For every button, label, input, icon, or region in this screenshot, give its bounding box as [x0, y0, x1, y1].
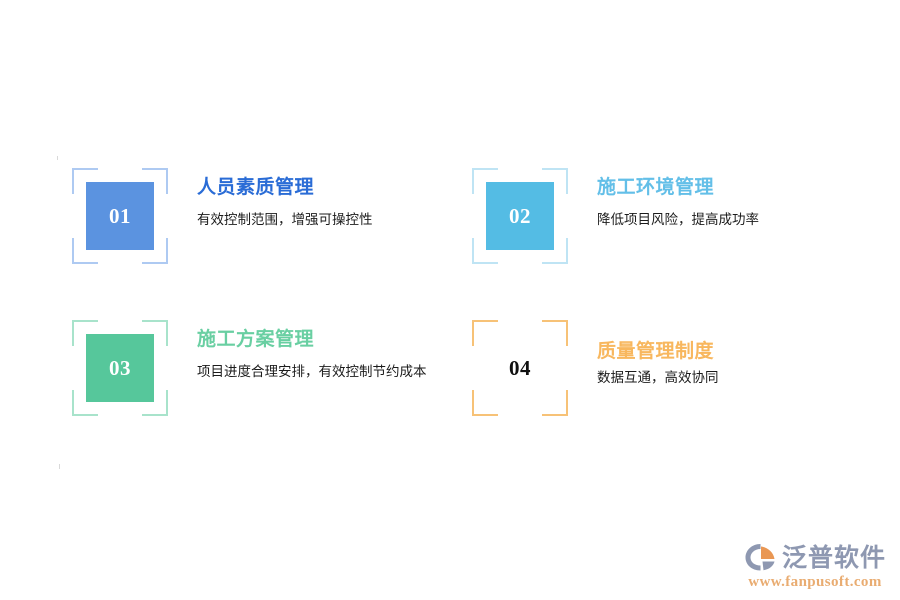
artifact-speck	[59, 464, 60, 469]
feature-grid: 01 人员素质管理 有效控制范围，增强可操控性 02	[0, 0, 900, 600]
watermark: 泛普软件 www.fanpusoft.com	[744, 542, 886, 590]
feature-title: 施工方案管理	[197, 328, 469, 351]
feature-title: 施工环境管理	[597, 176, 865, 199]
feature-item-02[interactable]: 02 施工环境管理 降低项目风险，提高成功率	[472, 168, 865, 264]
badge-04: 04	[472, 320, 568, 416]
badge-02: 02	[472, 168, 568, 264]
number-square: 03	[86, 334, 154, 402]
watermark-brand-name: 泛普软件	[782, 545, 886, 570]
feature-item-03[interactable]: 03 施工方案管理 项目进度合理安排，有效控制节约成本	[72, 320, 469, 416]
step-number: 04	[509, 358, 531, 379]
feature-item-04[interactable]: 04 质量管理制度 数据互通，高效协同	[472, 320, 865, 416]
feature-text-block: 施工环境管理 降低项目风险，提高成功率	[597, 168, 865, 231]
feature-text-block: 质量管理制度 数据互通，高效协同	[597, 320, 865, 389]
step-number: 02	[509, 206, 531, 227]
watermark-brand-row: 泛普软件	[744, 542, 886, 572]
step-number: 03	[109, 358, 131, 379]
badge-03: 03	[72, 320, 168, 416]
badge-01: 01	[72, 168, 168, 264]
feature-description: 数据互通，高效协同	[597, 367, 865, 389]
number-square: 02	[486, 182, 554, 250]
feature-title: 人员素质管理	[197, 176, 465, 199]
infographic-canvas: 01 人员素质管理 有效控制范围，增强可操控性 02	[0, 0, 900, 600]
feature-description: 项目进度合理安排，有效控制节约成本	[197, 361, 469, 383]
number-square: 04	[486, 334, 554, 402]
step-number: 01	[109, 206, 131, 227]
feature-description: 有效控制范围，增强可操控性	[197, 209, 465, 231]
feature-description: 降低项目风险，提高成功率	[597, 209, 865, 231]
feature-text-block: 施工方案管理 项目进度合理安排，有效控制节约成本	[197, 320, 469, 383]
feature-text-block: 人员素质管理 有效控制范围，增强可操控性	[197, 168, 465, 231]
feature-title: 质量管理制度	[597, 340, 865, 363]
watermark-url: www.fanpusoft.com	[748, 575, 881, 590]
number-square: 01	[86, 182, 154, 250]
artifact-speck	[57, 156, 58, 160]
fanpu-logo-icon	[744, 542, 778, 572]
feature-item-01[interactable]: 01 人员素质管理 有效控制范围，增强可操控性	[72, 168, 465, 264]
